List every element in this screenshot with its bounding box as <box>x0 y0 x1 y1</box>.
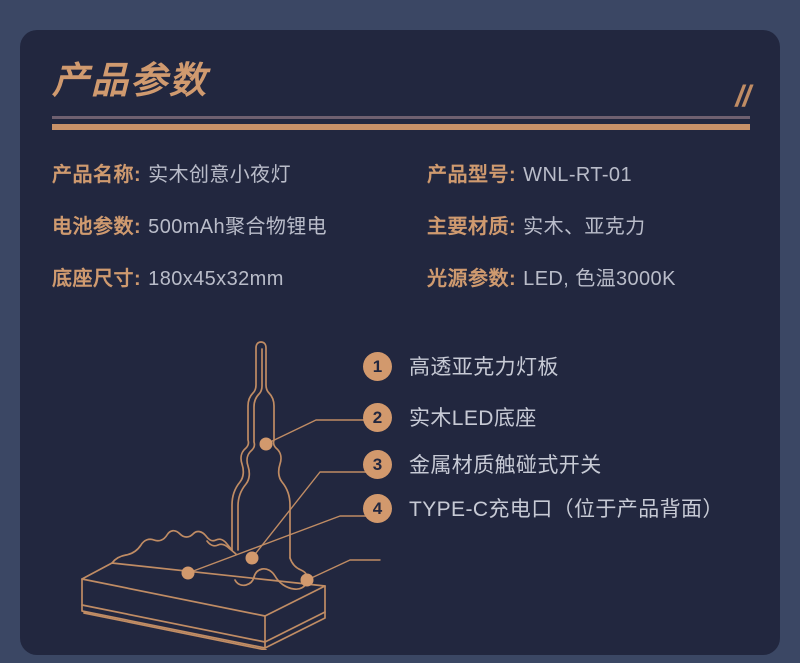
spec-value: 500mAh聚合物锂电 <box>148 210 327 239</box>
spec-item-material: 主要材质: 实木、亚克力 <box>427 210 752 239</box>
spec-item-base-size: 底座尺寸: 180x45x32mm <box>52 262 427 291</box>
page-title: 产品参数 <box>52 62 208 99</box>
spec-value: 180x45x32mm <box>148 268 284 291</box>
callout-label: 实木LED底座 <box>409 402 537 432</box>
callout-label: 金属材质触碰式开关 <box>409 449 602 479</box>
spec-label: 主要材质: <box>427 210 516 239</box>
spec-value: LED, 色温3000K <box>523 262 676 291</box>
spec-label: 电池参数: <box>52 210 141 239</box>
spec-item-battery: 电池参数: 500mAh聚合物锂电 <box>52 210 427 239</box>
table-row: 电池参数: 500mAh聚合物锂电 主要材质: 实木、亚克力 <box>52 210 752 262</box>
table-row: 产品名称: 实木创意小夜灯 产品型号: WNL-RT-01 <box>52 158 752 210</box>
spec-label: 产品名称: <box>52 158 141 187</box>
callout-item-3[interactable]: 3 金属材质触碰式开关 <box>363 449 602 479</box>
spec-label: 底座尺寸: <box>52 262 141 291</box>
callout-label: TYPE-C充电口（位于产品背面） <box>409 493 724 523</box>
callout-label: 高透亚克力灯板 <box>409 351 559 381</box>
spec-value: WNL-RT-01 <box>523 164 632 187</box>
callout-item-2[interactable]: 2 实木LED底座 <box>363 402 537 432</box>
spec-item-model: 产品型号: WNL-RT-01 <box>427 158 752 187</box>
spec-label: 产品型号: <box>427 158 516 187</box>
callout-item-4[interactable]: 4 TYPE-C充电口（位于产品背面） <box>363 493 724 523</box>
slash-decoration-icon: // <box>735 82 750 112</box>
spec-table: 产品名称: 实木创意小夜灯 产品型号: WNL-RT-01 电池参数: 500m… <box>52 158 752 314</box>
header-rule-thin <box>52 116 750 119</box>
callout-badge: 1 <box>363 352 392 381</box>
spec-label: 光源参数: <box>427 262 516 291</box>
spec-item-product-name: 产品名称: 实木创意小夜灯 <box>52 158 427 187</box>
infographic-root: 产品参数 // 产品名称: 实木创意小夜灯 产品型号: WNL-RT-01 电池… <box>0 0 800 663</box>
callout-badge: 3 <box>363 450 392 479</box>
spec-value: 实木创意小夜灯 <box>148 158 291 187</box>
spec-item-light-source: 光源参数: LED, 色温3000K <box>427 262 752 291</box>
callout-item-1[interactable]: 1 高透亚克力灯板 <box>363 351 559 381</box>
spec-value: 实木、亚克力 <box>523 210 645 239</box>
header-rule-thick <box>52 124 750 130</box>
callout-badge: 4 <box>363 494 392 523</box>
callout-badge: 2 <box>363 403 392 432</box>
